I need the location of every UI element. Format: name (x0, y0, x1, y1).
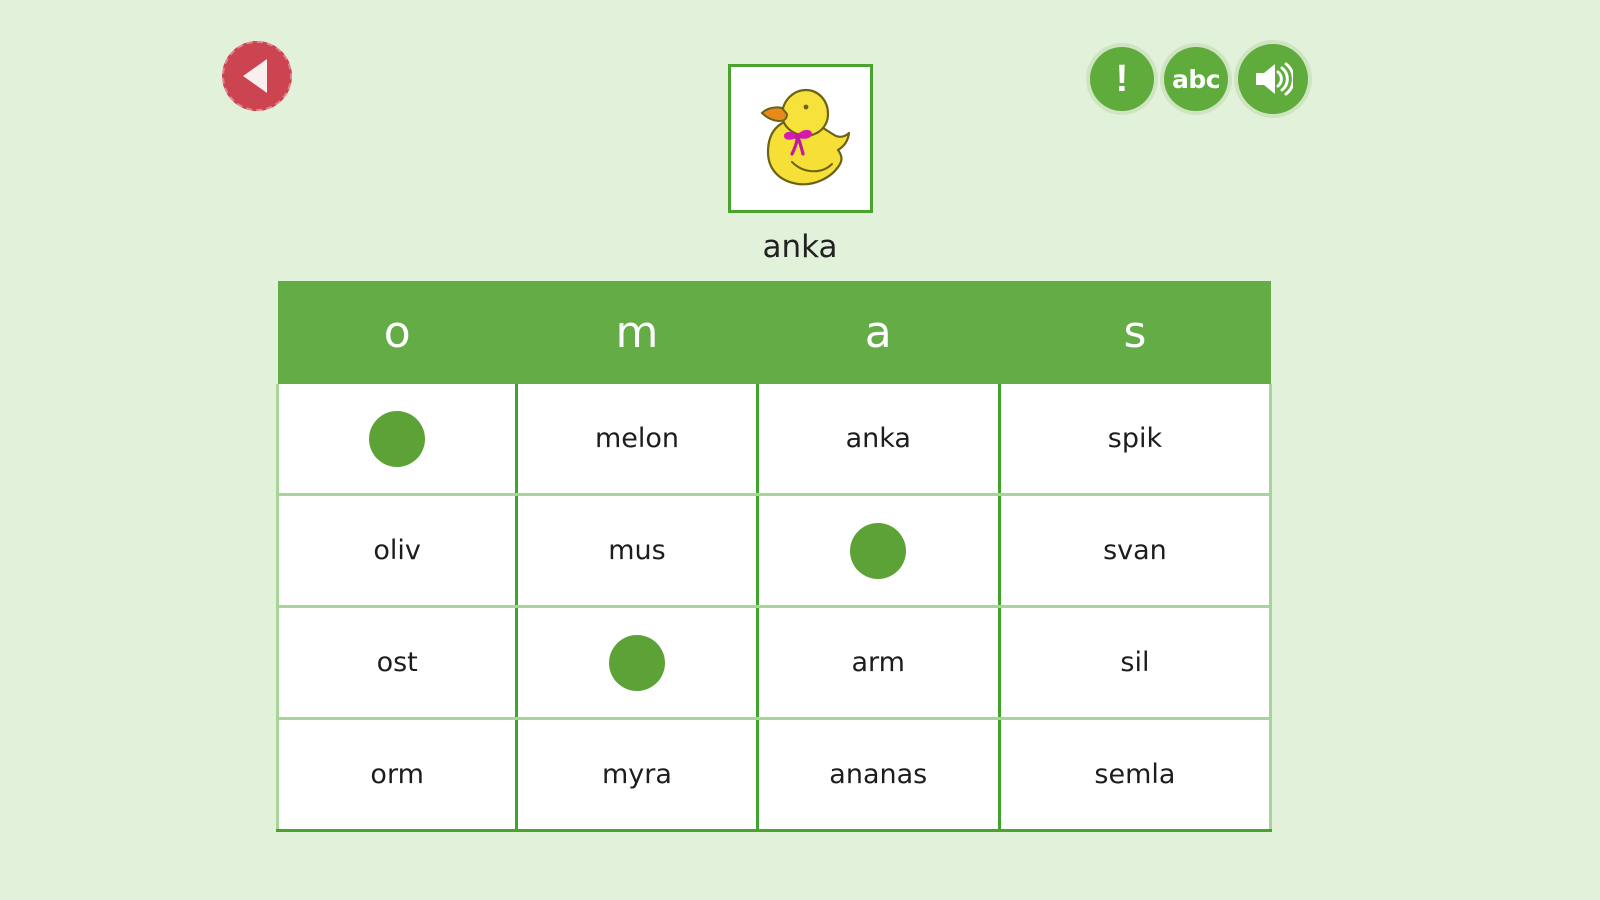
word-grid: o m a s melon anka spik oliv mus svan (276, 281, 1272, 832)
grid-cell-word[interactable]: ananas (757, 719, 999, 831)
selected-dot-icon (850, 523, 906, 579)
prompt-word: anka (762, 229, 837, 265)
duck-icon (740, 80, 860, 198)
grid-cell-marker[interactable] (757, 495, 999, 607)
selected-dot-icon (609, 635, 665, 691)
grid-cell-word[interactable]: orm (278, 719, 517, 831)
grid-cell-word[interactable]: ost (278, 607, 517, 719)
table-row: melon anka spik (278, 384, 1271, 495)
grid-cell-marker[interactable] (517, 607, 757, 719)
grid-cell-word[interactable]: spik (999, 384, 1270, 495)
grid-cell-word[interactable]: melon (517, 384, 757, 495)
table-row: oliv mus svan (278, 495, 1271, 607)
app-root: ! abc (0, 0, 1600, 900)
column-header-s: s (999, 281, 1270, 384)
column-header-m: m (517, 281, 757, 384)
column-header-o: o (278, 281, 517, 384)
grid-cell-word[interactable]: arm (757, 607, 999, 719)
prompt-image-card[interactable] (728, 64, 873, 213)
grid-cell-word[interactable]: semla (999, 719, 1270, 831)
grid-cell-word[interactable]: oliv (278, 495, 517, 607)
grid-cell-word[interactable]: mus (517, 495, 757, 607)
grid-cell-word[interactable]: sil (999, 607, 1270, 719)
prompt-area: anka (0, 64, 1600, 265)
selected-dot-icon (369, 411, 425, 467)
grid-cell-word[interactable]: anka (757, 384, 999, 495)
grid-cell-marker[interactable] (278, 384, 517, 495)
table-row: ost arm sil (278, 607, 1271, 719)
grid-cell-word[interactable]: myra (517, 719, 757, 831)
grid-cell-word[interactable]: svan (999, 495, 1270, 607)
table-row: orm myra ananas semla (278, 719, 1271, 831)
grid-header-row: o m a s (278, 281, 1271, 384)
column-header-a: a (757, 281, 999, 384)
